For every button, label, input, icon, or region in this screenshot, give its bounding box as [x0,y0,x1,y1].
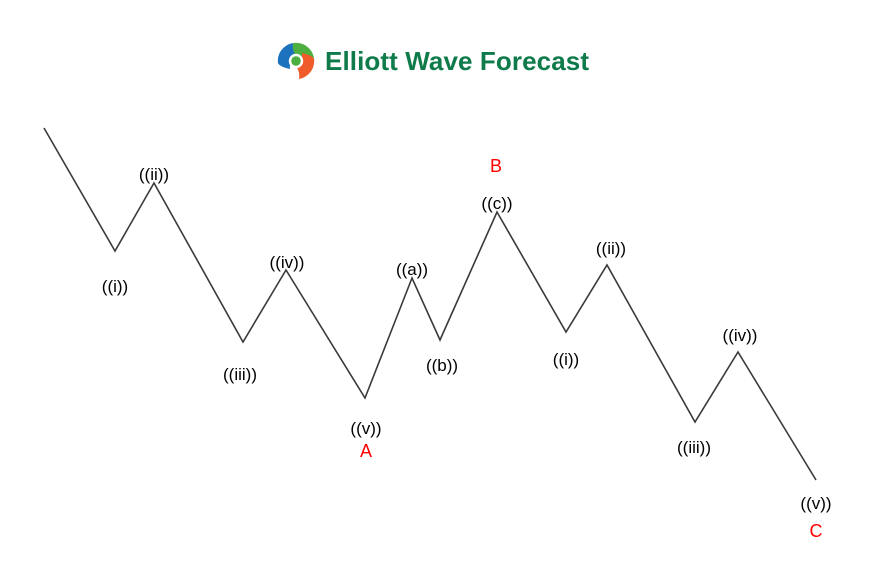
wave-label-ii-1: ((ii)) [139,166,169,183]
wave-label-iii-12: ((iii)) [677,439,711,456]
wave-label-a-6: ((a)) [396,261,428,278]
wave-label-b-7: ((b)) [426,357,458,374]
wave-chart-svg [0,0,877,579]
wave-label-i-0: ((i)) [102,278,128,295]
wave-label-b-8: B [490,157,502,175]
wave-label-v-14: ((v)) [800,495,831,512]
wave-label-iii-2: ((iii)) [223,366,257,383]
wave-label-a-5: A [360,442,372,460]
wave-label-v-4: ((v)) [350,420,381,437]
wave-label-i-10: ((i)) [553,351,579,368]
elliott-wave-chart-page: Elliott Wave Forecast ((i))((ii))((iii))… [0,0,877,579]
wave-label-ii-11: ((ii)) [596,240,626,257]
wave-label-c-9: ((c)) [481,195,512,212]
wave-label-iv-3: ((iv)) [270,254,305,271]
wave-label-c-15: C [810,522,823,540]
wave-label-iv-13: ((iv)) [723,327,758,344]
